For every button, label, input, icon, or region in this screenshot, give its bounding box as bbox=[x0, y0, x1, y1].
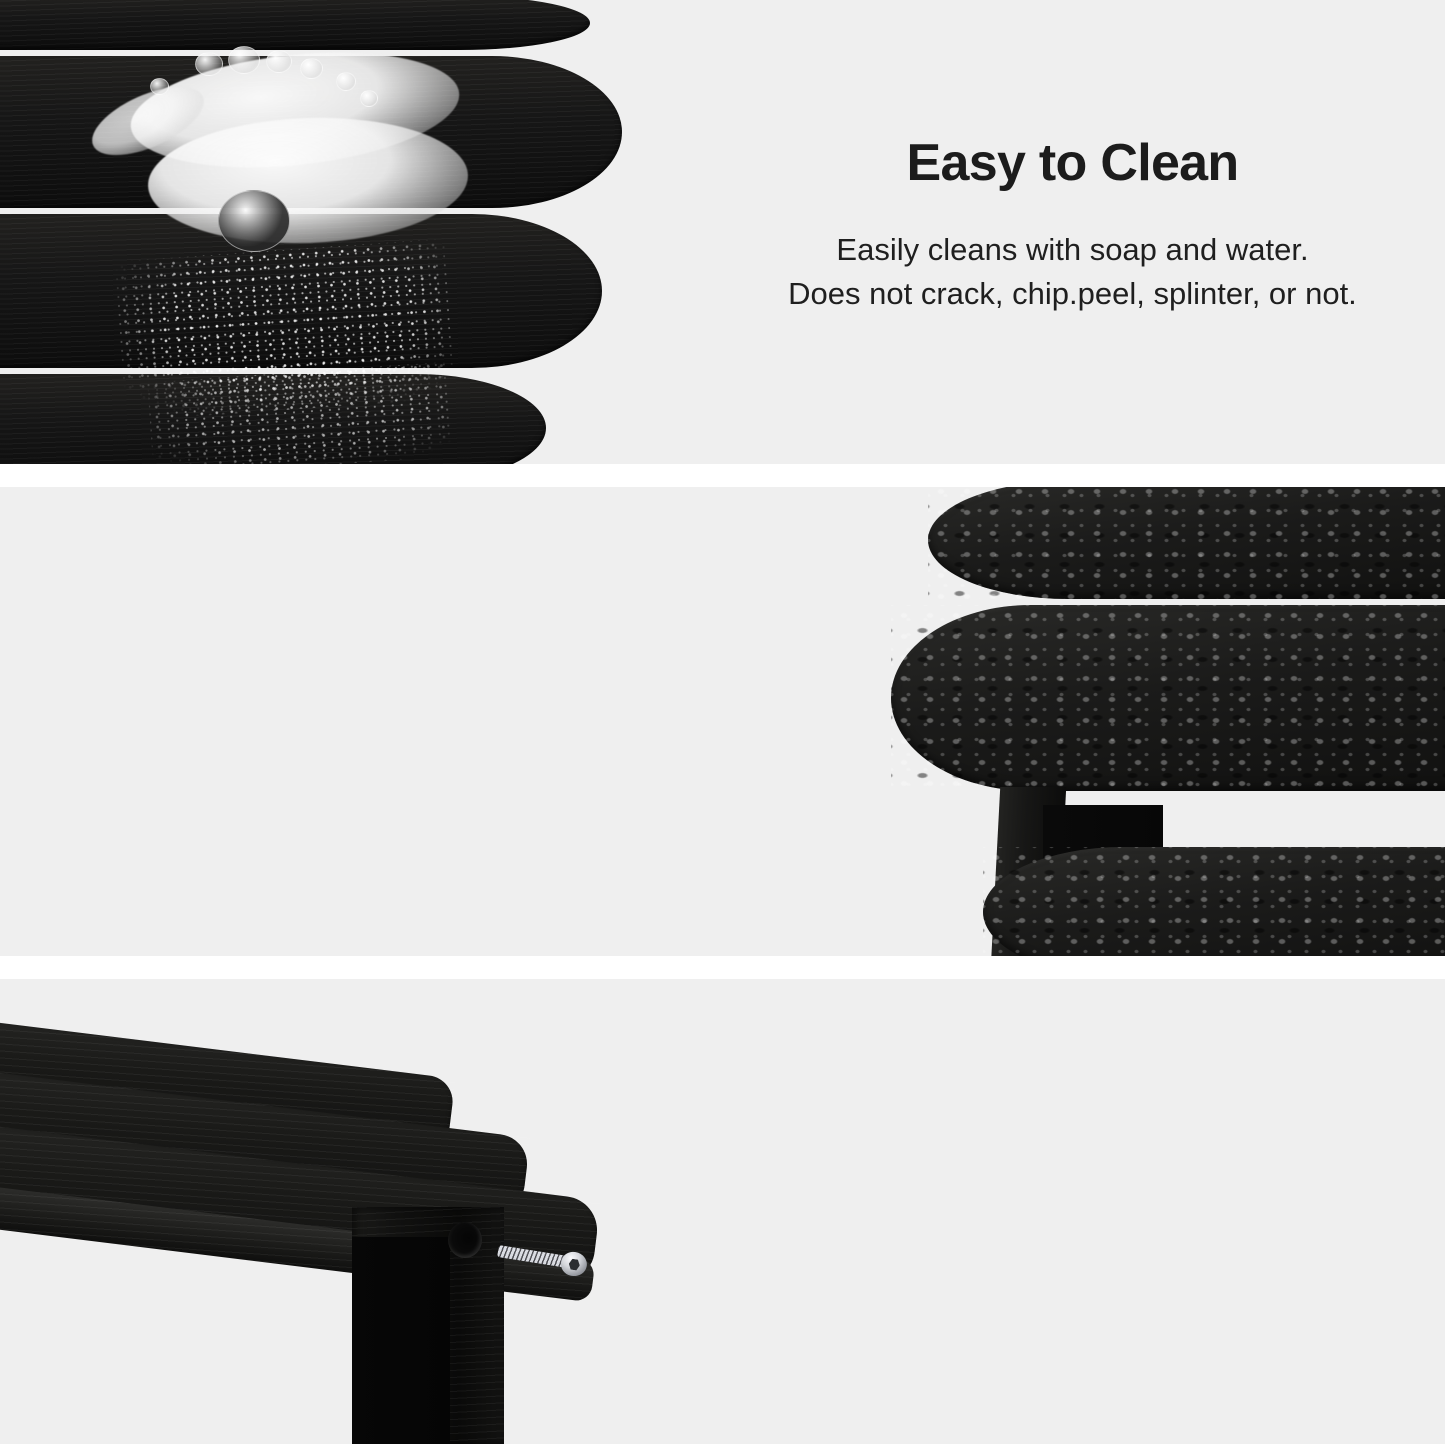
soap-bubble bbox=[218, 190, 290, 252]
wet-slat-1 bbox=[928, 487, 1445, 599]
soap-bubble bbox=[336, 72, 356, 91]
wet-slat-2 bbox=[891, 605, 1445, 791]
soap-bubble bbox=[195, 52, 223, 76]
water-beads bbox=[891, 605, 1445, 791]
text-block-easy-to-clean: Easy to Clean Easily cleans with soap an… bbox=[700, 136, 1445, 316]
wet-slat-3 bbox=[983, 847, 1445, 956]
product-feature-infographic: Easy to Clean Easily cleans with soap an… bbox=[0, 0, 1445, 1444]
soap-bubble bbox=[300, 58, 323, 79]
soap-bubble bbox=[150, 78, 169, 95]
soap-bubble bbox=[360, 90, 378, 107]
soapy-slats-image bbox=[0, 0, 640, 464]
feature-description: Easily cleans with soap and water. Does … bbox=[700, 228, 1445, 316]
feature-panel-waterproof-and-durable: Waterproof and Durable Waterproof design… bbox=[0, 487, 1445, 956]
soap-bubble bbox=[266, 50, 292, 73]
description-line: Easily cleans with soap and water. bbox=[700, 228, 1445, 272]
feature-panel-easy-to-clean: Easy to Clean Easily cleans with soap an… bbox=[0, 0, 1445, 464]
feature-panel-quick-installation: Quick installation Simple structure and … bbox=[0, 979, 1445, 1444]
wet-tabletop-image bbox=[865, 487, 1445, 956]
description-line: Does not crack, chip.peel, splinter, or … bbox=[700, 272, 1445, 316]
soap-bubble bbox=[228, 46, 260, 74]
slat-1 bbox=[0, 0, 590, 50]
page-title: Easy to Clean bbox=[700, 136, 1445, 191]
table-leg-inner-shadow bbox=[352, 1237, 450, 1444]
water-beads bbox=[928, 487, 1445, 599]
water-beads bbox=[983, 847, 1445, 956]
table-corner-image bbox=[0, 979, 660, 1444]
pre-drilled-hole bbox=[448, 1222, 482, 1258]
